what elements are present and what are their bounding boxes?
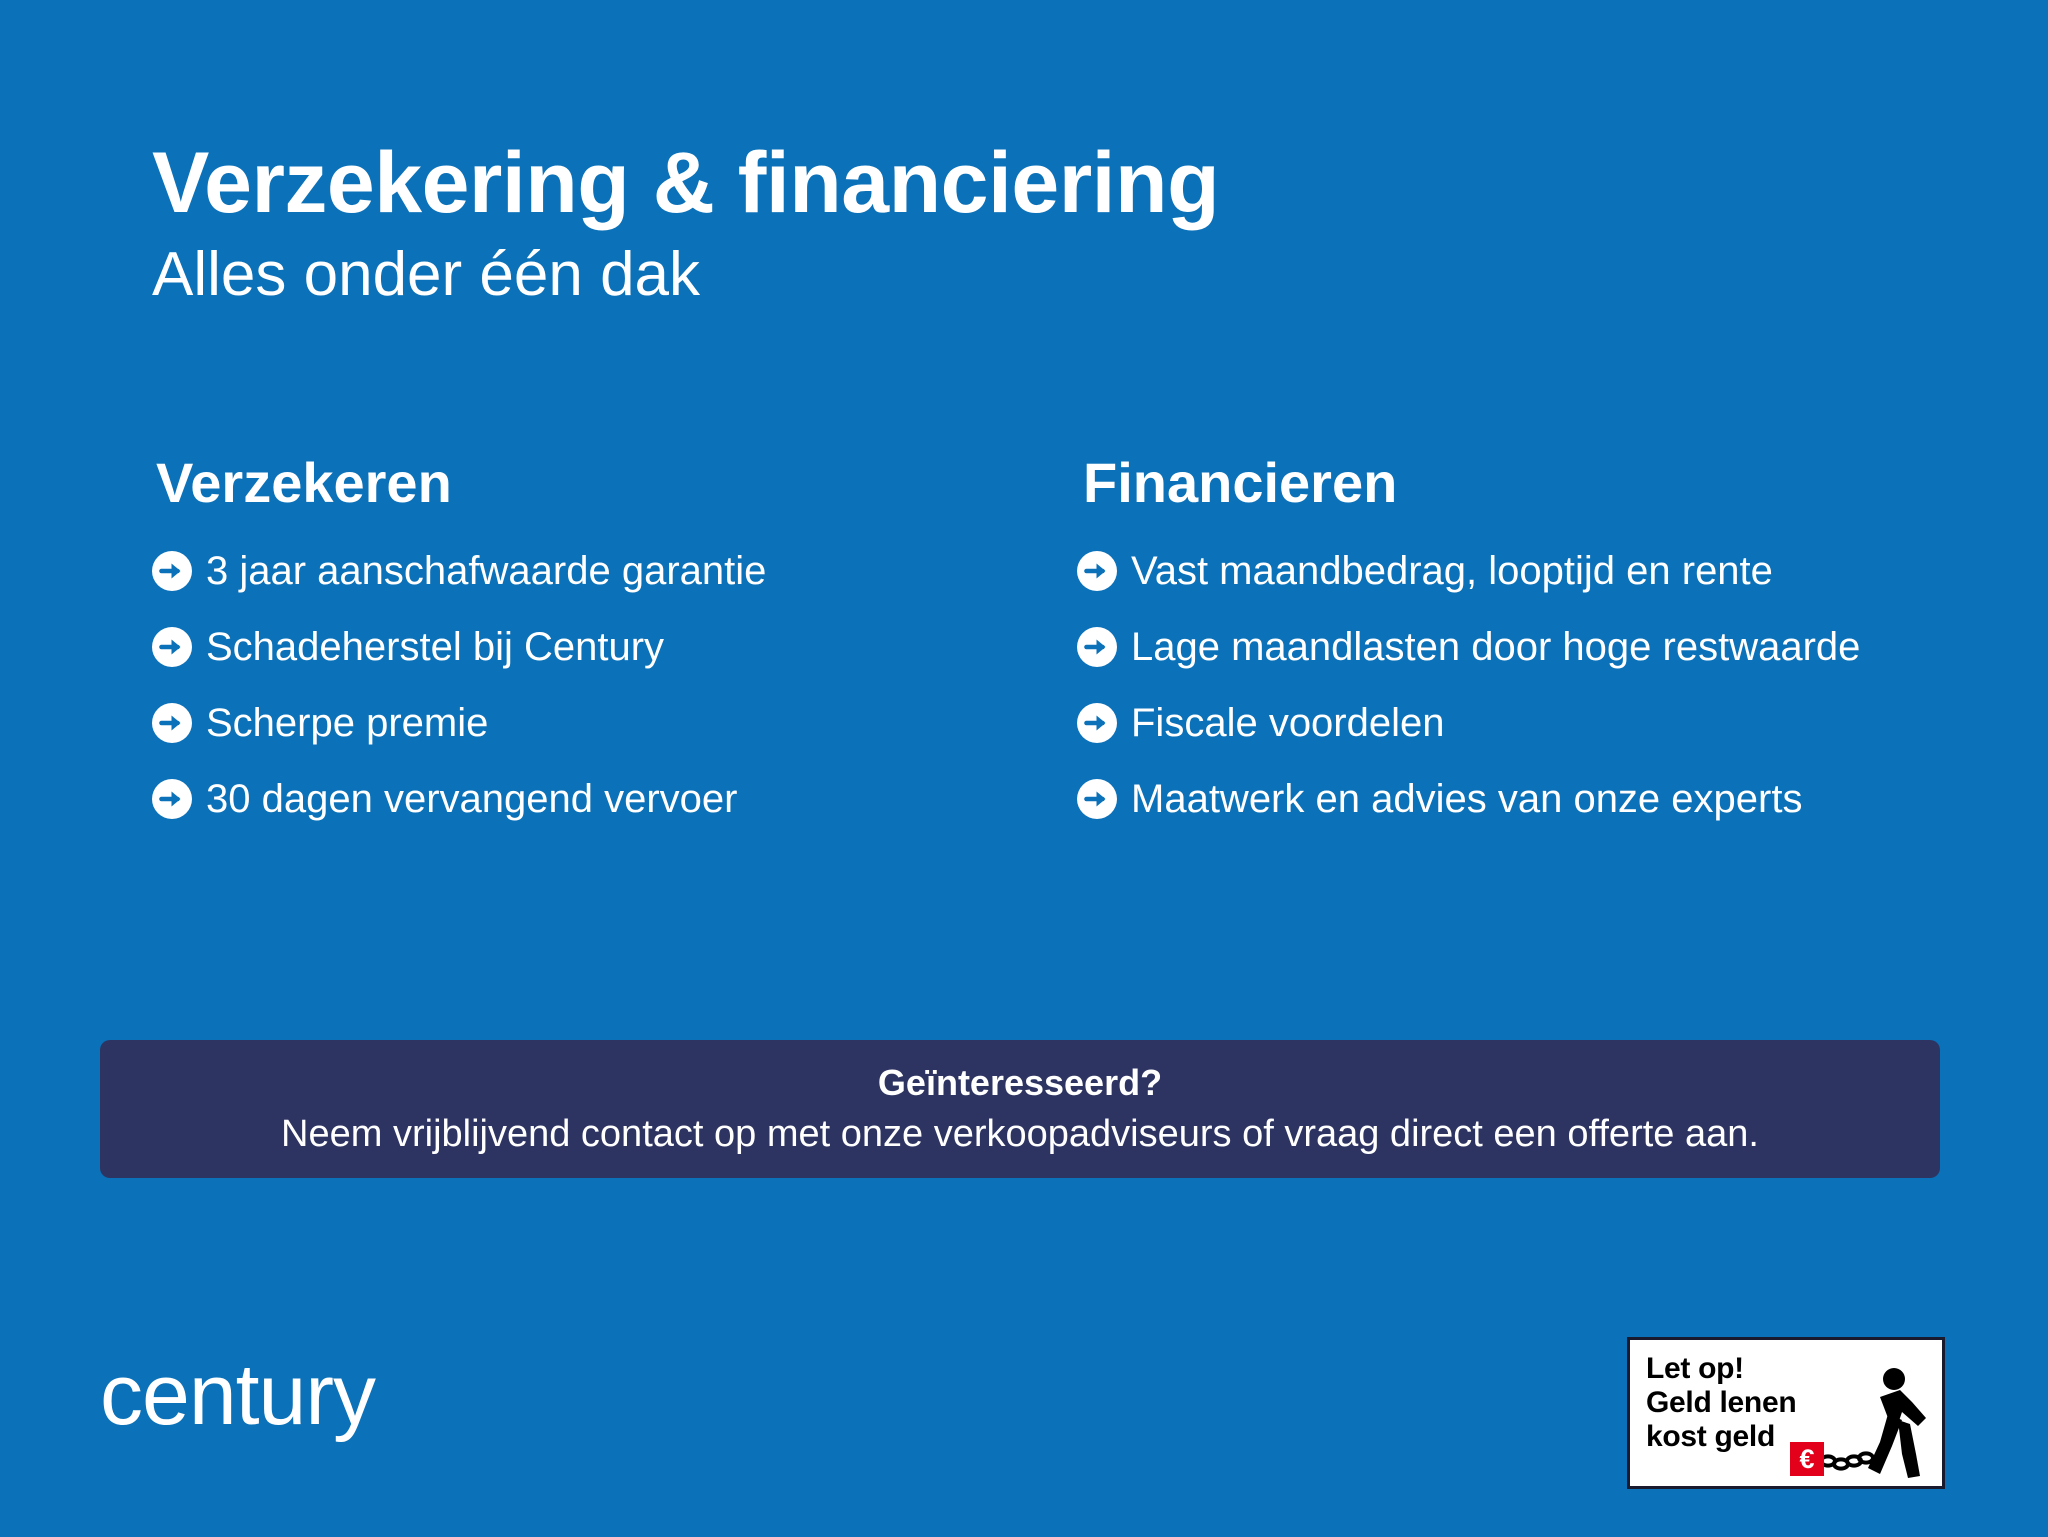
- chain-icon: [1821, 1453, 1873, 1468]
- slide-canvas: Verzekering & financiering Alles onder é…: [0, 0, 2048, 1537]
- cta-text: Neem vrijblijvend contact op met onze ve…: [281, 1111, 1759, 1159]
- column-heading-financieren: Financieren: [1083, 452, 1942, 514]
- list-item-label: Schadeherstel bij Century: [206, 624, 664, 670]
- list-item-label: Vast maandbedrag, looptijd en rente: [1131, 548, 1773, 594]
- arrow-circle-right-icon: [1077, 779, 1117, 819]
- list-item-label: Scherpe premie: [206, 700, 488, 746]
- list-item-label: Lage maandlasten door hoge restwaarde: [1131, 624, 1860, 670]
- list-item-label: 3 jaar aanschafwaarde garantie: [206, 548, 766, 594]
- bullet-list-financieren: Vast maandbedrag, looptijd en rente Lage…: [1077, 548, 1942, 822]
- feature-columns: Verzekeren 3 jaar aanschafwaarde garanti…: [152, 452, 1942, 822]
- arrow-circle-right-icon: [152, 703, 192, 743]
- cta-title: Geïnteresseerd?: [878, 1060, 1162, 1105]
- arrow-circle-right-icon: [1077, 551, 1117, 591]
- column-verzekeren: Verzekeren 3 jaar aanschafwaarde garanti…: [152, 452, 1017, 822]
- column-financieren: Financieren Vast maandbedrag, looptijd e…: [1077, 452, 1942, 822]
- loan-warning-text: Let op! Geld lenen kost geld: [1646, 1352, 1796, 1455]
- list-item: Maatwerk en advies van onze experts: [1077, 776, 1942, 822]
- page-subtitle: Alles onder één dak: [152, 241, 1852, 309]
- list-item: Lage maandlasten door hoge restwaarde: [1077, 624, 1942, 670]
- list-item: Schadeherstel bij Century: [152, 624, 1017, 670]
- list-item: Fiscale voordelen: [1077, 700, 1942, 746]
- list-item: Vast maandbedrag, looptijd en rente: [1077, 548, 1942, 594]
- arrow-circle-right-icon: [152, 551, 192, 591]
- list-item-label: 30 dagen vervangend vervoer: [206, 776, 737, 822]
- svg-text:€: €: [1799, 1444, 1814, 1474]
- list-item: Scherpe premie: [152, 700, 1017, 746]
- arrow-circle-right-icon: [1077, 703, 1117, 743]
- list-item: 3 jaar aanschafwaarde garantie: [152, 548, 1017, 594]
- cta-banner[interactable]: Geïnteresseerd? Neem vrijblijvend contac…: [100, 1040, 1940, 1178]
- walking-person-icon: €: [1776, 1362, 1936, 1480]
- list-item-label: Maatwerk en advies van onze experts: [1131, 776, 1802, 822]
- header: Verzekering & financiering Alles onder é…: [152, 138, 1852, 309]
- page-title: Verzekering & financiering: [152, 138, 1852, 229]
- column-heading-verzekeren: Verzekeren: [156, 452, 1017, 514]
- arrow-circle-right-icon: [152, 779, 192, 819]
- arrow-circle-right-icon: [1077, 627, 1117, 667]
- arrow-circle-right-icon: [152, 627, 192, 667]
- century-logo: century: [100, 1352, 375, 1438]
- loan-warning-box: Let op! Geld lenen kost geld €: [1627, 1337, 1945, 1489]
- list-item: 30 dagen vervangend vervoer: [152, 776, 1017, 822]
- list-item-label: Fiscale voordelen: [1131, 700, 1445, 746]
- bullet-list-verzekeren: 3 jaar aanschafwaarde garantie Schadeher…: [152, 548, 1017, 822]
